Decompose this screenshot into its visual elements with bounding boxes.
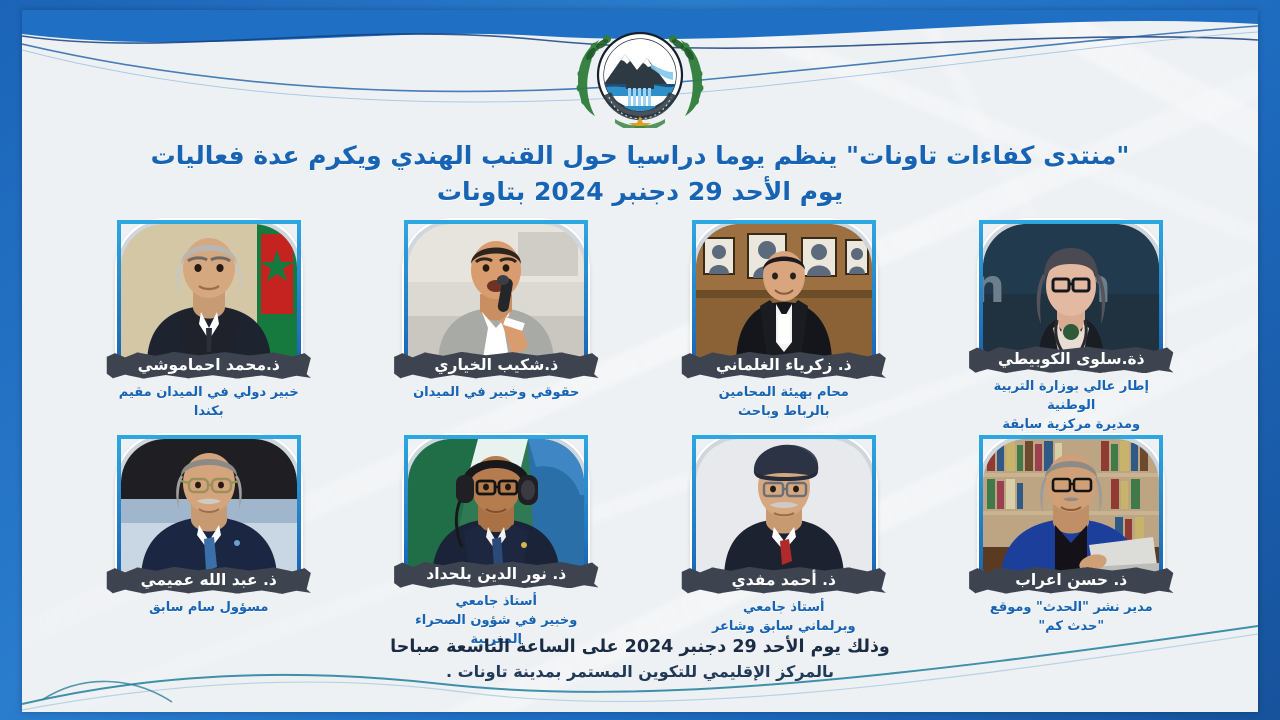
honoree-role: أستاذ جامعي وبرلماني سابق وشاعر: [712, 599, 856, 637]
honoree-role: حقوقي وخبير في الميدان: [413, 384, 579, 403]
honoree-name: ذ. عبد الله عميمي: [107, 567, 311, 594]
portrait-man-glasses-navy-suit: [121, 439, 297, 579]
honoree-role: محام بهيئة المحامين بالرباط وباحث: [719, 384, 849, 422]
title-line-2: يوم الأحد 29 دجنبر 2024 بتاونات: [82, 174, 1198, 210]
honoree-name: ذ. أحمد مفدي: [682, 567, 886, 594]
honoree-photo-frame: [404, 435, 588, 577]
title-line-1: "منتدى كفاءات تاونات" ينظم يوما دراسيا ح…: [151, 141, 1130, 170]
honoree-role: مسؤول سام سابق: [149, 599, 268, 618]
portrait-woman-glasses-dark-blazer: n n: [983, 224, 1159, 362]
honoree-name: ذ.محمد احماموشي: [107, 352, 311, 379]
honoree-card: ذ.محمد احماموشي خبير دولي في الميدان مقي…: [68, 220, 350, 435]
portrait-man-beret-mustache: [696, 439, 872, 579]
poster-root: "منتدى كفاءات تاونات" ينظم يوما دراسيا ح…: [0, 0, 1280, 720]
honoree-role: إطار عالي بوزارة التربية الوطنية ومديرة …: [971, 378, 1171, 435]
honoree-card: ذ.شكيب الخياري حقوقي وخبير في الميدان: [356, 220, 638, 435]
honoree-name: ذ. نور الدين بلحداد: [394, 561, 598, 588]
taounate-emblem-logo: [555, 20, 725, 128]
honoree-name: ذ.شكيب الخياري: [394, 352, 598, 379]
honoree-photo-frame: [404, 220, 588, 368]
honoree-card: ذ. زكرياء الغلماني محام بهيئة المحامين ب…: [643, 220, 925, 435]
honoree-card: ذ. نور الدين بلحداد أستاذ جامعي وخبير في…: [356, 435, 638, 650]
honoree-name: ذة.سلوى الكوبيطي: [969, 346, 1173, 373]
portrait-man-grey-jacket-microphone: [408, 224, 584, 364]
event-details-footer: وذلك يوم الأحد 29 دجنبر 2024 على الساعة …: [82, 634, 1198, 684]
portrait-man-blue-jacket-bookshelf-laptop: [983, 439, 1159, 579]
honoree-photo-frame: n n: [979, 220, 1163, 362]
honoree-photo-frame: [117, 220, 301, 368]
portrait-man-grey-hair-dark-suit: [121, 224, 297, 364]
svg-text:n: n: [983, 259, 1005, 313]
honoree-photo-frame: [979, 435, 1163, 583]
honorees-grid: n n: [68, 220, 1212, 650]
portrait-man-headphones-studio: [408, 439, 584, 577]
poster-title: "منتدى كفاءات تاونات" ينظم يوما دراسيا ح…: [82, 138, 1198, 209]
honoree-photo-frame: [692, 435, 876, 583]
footer-line-2: بالمركز الإقليمي للتكوين المستمر بمدينة …: [82, 660, 1198, 684]
poster-canvas: "منتدى كفاءات تاونات" ينظم يوما دراسيا ح…: [22, 10, 1258, 712]
honoree-name: ذ. حسن اعراب: [969, 567, 1173, 594]
honoree-card: ذ. أحمد مفدي أستاذ جامعي وبرلماني سابق و…: [643, 435, 925, 650]
honoree-photo-frame: [117, 435, 301, 583]
honoree-name: ذ. زكرياء الغلماني: [682, 352, 886, 379]
honoree-role: مدير نشر "الحدث" وموقع "حدث كم": [971, 599, 1171, 637]
honoree-card: ذ. عبد الله عميمي مسؤول سام سابق: [68, 435, 350, 650]
honoree-role: خبير دولي في الميدان مقيم بكندا: [109, 384, 309, 422]
logo-container: [22, 20, 1258, 128]
footer-line-1: وذلك يوم الأحد 29 دجنبر 2024 على الساعة …: [82, 634, 1198, 660]
honoree-card: n n: [931, 220, 1213, 435]
portrait-man-lawyer-robe: [696, 224, 872, 364]
honoree-photo-frame: [692, 220, 876, 368]
honoree-card: ذ. حسن اعراب مدير نشر "الحدث" وموقع "حدث…: [931, 435, 1213, 650]
